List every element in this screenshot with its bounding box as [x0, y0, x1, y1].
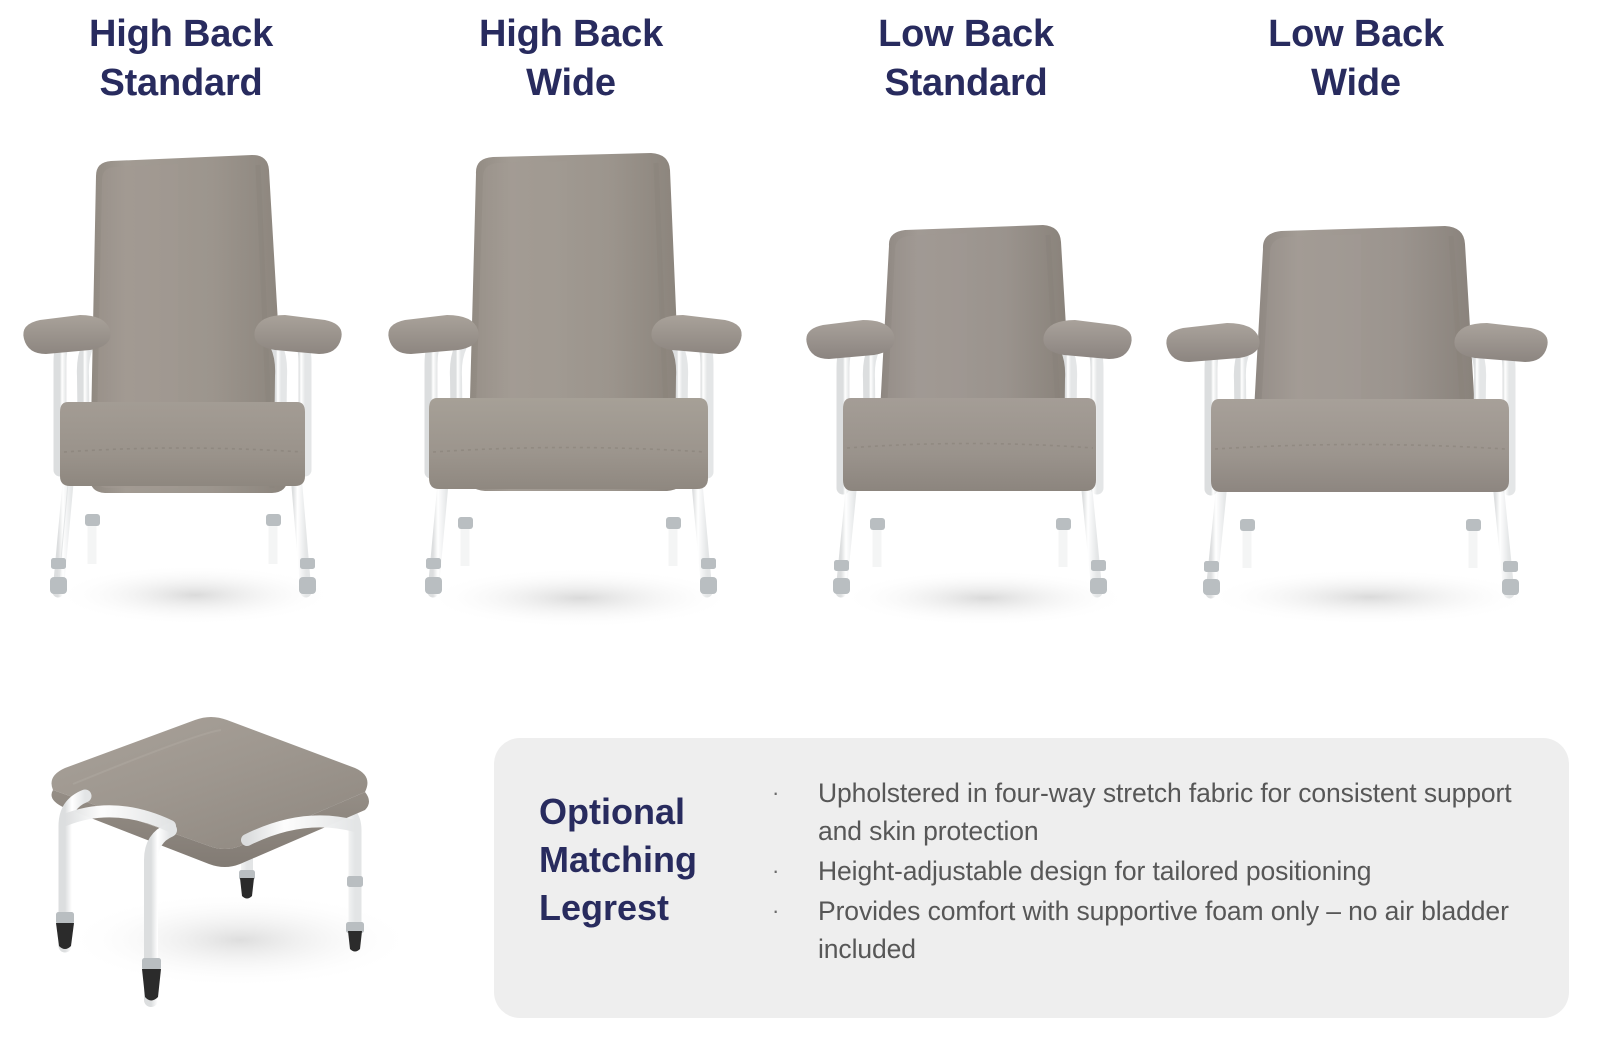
chair-image-high-back-standard [10, 140, 350, 630]
heading-line-2: Standard [0, 59, 362, 108]
heading-line-1: High Back [479, 13, 663, 55]
heading-line-1: Low Back [1268, 13, 1444, 55]
optional-legrest-panel: Optional Matching Legrest · Upholstered … [494, 738, 1569, 1018]
heading-line-1: High Back [89, 13, 273, 55]
feature-list: · Upholstered in four-way stretch fabric… [766, 774, 1536, 970]
feature-list-item: · Provides comfort with supportive foam … [766, 892, 1536, 968]
chair-image-high-back-wide [375, 140, 750, 630]
variant-heading-low-back-wide: Low Back Wide [1175, 10, 1537, 107]
bullet-dot-icon: · [766, 892, 818, 930]
variant-heading-high-back-standard: High Back Standard [0, 10, 362, 107]
bullet-dot-icon: · [766, 774, 818, 812]
panel-title-line-2: Matching [539, 836, 754, 884]
product-range-comparison-graphic: High Back Standard High Back Wide Low Ba… [0, 0, 1600, 1050]
panel-title-line-1: Optional [539, 788, 754, 836]
panel-title: Optional Matching Legrest [539, 788, 754, 932]
heading-line-1: Low Back [878, 13, 1054, 55]
chair-image-low-back-standard [795, 200, 1140, 630]
bullet-dot-icon: · [766, 852, 818, 890]
legrest-image [25, 700, 435, 1030]
feature-text: Height-adjustable design for tailored po… [818, 852, 1536, 890]
variant-heading-high-back-wide: High Back Wide [390, 10, 752, 107]
chair-image-low-back-wide [1155, 205, 1555, 630]
feature-list-item: · Upholstered in four-way stretch fabric… [766, 774, 1536, 850]
feature-text: Upholstered in four-way stretch fabric f… [818, 774, 1536, 850]
feature-list-item: · Height-adjustable design for tailored … [766, 852, 1536, 890]
heading-line-2: Wide [1175, 59, 1537, 108]
heading-line-2: Standard [785, 59, 1147, 108]
panel-title-line-3: Legrest [539, 884, 754, 932]
variant-heading-low-back-standard: Low Back Standard [785, 10, 1147, 107]
heading-line-2: Wide [390, 59, 752, 108]
feature-text: Provides comfort with supportive foam on… [818, 892, 1536, 968]
